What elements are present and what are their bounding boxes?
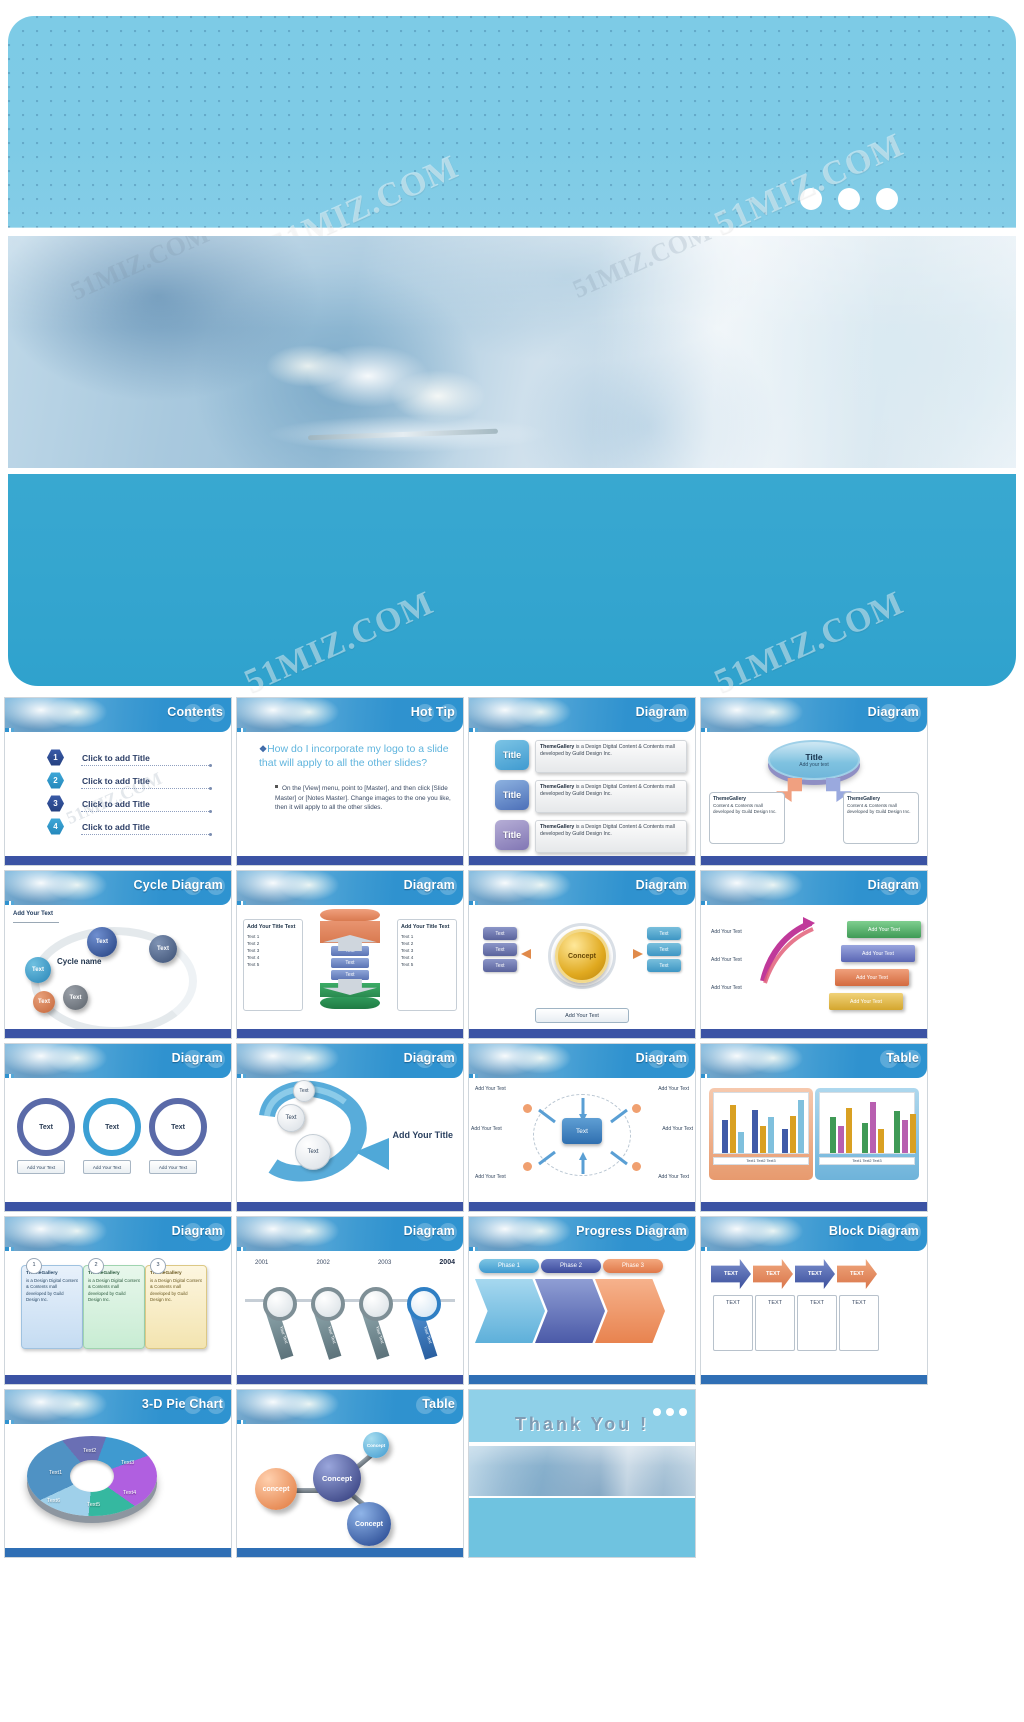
slide-footer <box>5 1202 231 1211</box>
radial-dot-icon <box>632 1162 641 1171</box>
block-box[interactable]: TEXT <box>755 1295 795 1351</box>
slide-title: Diagram <box>868 705 919 719</box>
slide-footer <box>237 856 463 865</box>
slide-thumbnail-progress-diagram[interactable]: Progress Diagram Phase 1 Phase 2 Phase 3 <box>468 1216 696 1385</box>
slide-title: Diagram <box>404 1224 455 1238</box>
thumbnail-row: Cycle Diagram Add Your Text Cycle name T… <box>4 870 1020 1039</box>
slide-title: Hot Tip <box>411 705 455 719</box>
slide-thumbnail-concept-hub[interactable]: Diagram Concept Text Text Text <box>468 870 696 1039</box>
slide-thumbnail-pie-chart[interactable]: 3-D Pie Chart Text1 Text2 Text3 Text4 Te… <box>4 1389 232 1558</box>
network-node[interactable]: Concept <box>363 1432 389 1458</box>
cycle-node[interactable]: Text <box>63 985 88 1010</box>
slide-body: ❖How do I incorporate my logo to a slide… <box>237 732 463 856</box>
row-icon: Title <box>495 740 529 770</box>
left-text-box[interactable]: ThemeGallery Content & Contents mall dev… <box>709 792 785 844</box>
slide-body: 2001 2002 2003 2004 Your Text Your Text … <box>237 1251 463 1375</box>
chart-legend: Text1 Text2 Text3 <box>819 1157 915 1165</box>
list-item[interactable]: 2 Click to add Title <box>47 769 215 792</box>
stack-item[interactable]: Text <box>647 959 681 972</box>
slide-title: Block Diagram <box>829 1224 919 1238</box>
chart-plot-area <box>713 1092 809 1154</box>
concept-hub-circle[interactable]: Concept <box>555 929 609 983</box>
empty-cell <box>700 1389 928 1558</box>
radial-label: Add Your Text <box>475 1086 506 1092</box>
stair-step[interactable]: Add Your Text <box>835 969 909 986</box>
slide-header: Table <box>237 1390 463 1424</box>
thank-you-text: Thank You ! <box>469 1414 695 1435</box>
slide-thumbnail-swirl-diagram[interactable]: Diagram Text Text Text Add Your Title <box>236 1043 464 1212</box>
theme-gallery-rows: Title ThemeGallery is a Design Digital C… <box>495 740 687 860</box>
ring-node[interactable]: Text <box>83 1098 141 1156</box>
thank-you-photo <box>469 1446 695 1496</box>
card-number-badge: 2 <box>88 1258 104 1274</box>
year-label: 2003 <box>378 1260 391 1266</box>
right-title-box[interactable]: Add Your Title Text Text 1 Text 2 Text 3… <box>397 919 457 1011</box>
bar-chart-left[interactable]: Text1 Text2 Text3 <box>709 1088 813 1180</box>
slide-footer <box>237 1375 463 1384</box>
hot-tip-answer: On the [View] menu, point to [Master], a… <box>275 784 453 812</box>
box-item: Text 1 <box>247 934 299 941</box>
oval-title-text: Title <box>805 752 822 762</box>
block-box[interactable]: TEXT <box>797 1295 837 1351</box>
row-lead: ThemeGallery <box>540 784 574 790</box>
slide-thumbnail-thank-you[interactable]: Thank You ! <box>468 1389 696 1558</box>
stair-step[interactable]: Add Your Text <box>829 993 903 1010</box>
slide-header: Diagram <box>237 871 463 905</box>
radial-dot-icon <box>523 1162 532 1171</box>
cycle-name-label: Cycle name <box>57 957 101 966</box>
contents-label: Click to add Title <box>82 753 150 763</box>
row-icon: Title <box>495 780 529 810</box>
row-lead: ThemeGallery <box>540 824 574 830</box>
hot-tip-question: ❖How do I incorporate my logo to a slide… <box>259 742 453 770</box>
slide-title: Diagram <box>172 1224 223 1238</box>
info-card[interactable]: 1 ThemeGallery is a Design Digital Conte… <box>21 1265 83 1349</box>
contents-label: Click to add Title <box>82 799 150 809</box>
slide-thumbnail-three-rings[interactable]: Diagram Text Text Text Add Your Text Add… <box>4 1043 232 1212</box>
network-node[interactable]: Concept <box>313 1454 361 1502</box>
slide-thumbnail-cylinder-diagram[interactable]: Diagram Text Text Text <box>236 870 464 1039</box>
box-item: Text 4 <box>247 955 299 962</box>
slide-header: Diagram <box>237 1217 463 1251</box>
slide-footer <box>469 1202 695 1211</box>
slide-body: concept Concept Concept Concept <box>237 1424 463 1548</box>
cycle-node[interactable]: Text <box>25 957 51 983</box>
slide-footer <box>5 856 231 865</box>
slide-footer <box>469 1375 695 1384</box>
info-card[interactable]: 3 ThemeGallery is a Design Digital Conte… <box>145 1265 207 1349</box>
cycle-diagram: Add Your Text Cycle name Text Text Text … <box>5 905 231 1029</box>
slide-body: Add Your Text Add Your Text Add Your Tex… <box>701 905 927 1029</box>
thumbnail-row: 3-D Pie Chart Text1 Text2 Text3 Text4 Te… <box>4 1389 1020 1558</box>
thumbnail-row: Contents 1 Click to add Title 2 <box>4 697 1020 866</box>
slide-header: Diagram <box>469 871 695 905</box>
slide-body: Phase 1 Phase 2 Phase 3 <box>469 1251 695 1375</box>
slide-title: Diagram <box>868 878 919 892</box>
slide-body: Title Add your text ThemeGallery Content… <box>701 732 927 856</box>
cycle-node[interactable]: Text <box>149 935 177 963</box>
add-text-button[interactable]: Add Your Text <box>149 1160 197 1174</box>
slide-title: Diagram <box>636 878 687 892</box>
hot-tip-answer-text: On the [View] menu, point to [Master], a… <box>275 785 451 811</box>
hero-dots <box>800 188 898 210</box>
stack-item[interactable]: Text <box>483 943 517 956</box>
slide-thumbnail-diagram-list[interactable]: Diagram Title ThemeGallery is a Design D… <box>468 697 696 866</box>
slide-body: Concept Text Text Text Text Text Text <box>469 905 695 1029</box>
hero-top-panel: 51MIZ.COM 51MIZ.COM <box>8 16 1016 228</box>
stack-item[interactable]: Text <box>647 927 681 940</box>
slide-header: Hot Tip <box>237 698 463 732</box>
thank-you-top-panel: Thank You ! <box>469 1390 695 1442</box>
pie-slice-label: Text2 <box>83 1448 96 1454</box>
hex-number-icon: 3 <box>47 795 64 812</box>
hex-number-icon: 4 <box>47 818 64 835</box>
box-title: Add Your Title Text <box>247 923 299 931</box>
stack-item[interactable]: Text <box>647 943 681 956</box>
arrow-left-icon <box>521 949 531 959</box>
slide-footer <box>469 856 695 865</box>
pie-slice-label: Text5 <box>87 1502 100 1508</box>
slide-thumbnail-hot-tip[interactable]: Hot Tip ❖How do I incorporate my logo to… <box>236 697 464 866</box>
watermark-text: 51MIZ.COM <box>239 584 440 701</box>
add-text-button[interactable]: Add Your Text <box>83 1160 131 1174</box>
rising-arrow-icon <box>759 915 817 985</box>
axis-label: Add Your Text <box>711 957 742 963</box>
radial-label: Add Your Text <box>662 1126 693 1132</box>
slide-body: Text Add Your Text Add Your Text Add You… <box>469 1078 695 1202</box>
row-icon: Title <box>495 820 529 850</box>
square-bullet-icon <box>275 785 278 788</box>
watermark-text: 51MIZ.COM <box>709 584 910 701</box>
swirl-node[interactable]: Text <box>277 1104 305 1132</box>
card-body: is a Design Digital Content & Contents m… <box>26 1278 78 1304</box>
card-number-badge: 1 <box>26 1258 42 1274</box>
center-text-stack: Text Text Text <box>331 946 369 980</box>
box-item: Text 2 <box>401 941 453 948</box>
slide-header: Cycle Diagram <box>5 871 231 905</box>
swirl-headline: Add Your Title <box>392 1130 453 1140</box>
stair-step[interactable]: Add Your Text <box>847 921 921 938</box>
radial-label: Add Your Text <box>658 1174 689 1180</box>
year-label-current: 2004 <box>439 1259 455 1266</box>
slide-footer <box>237 1202 463 1211</box>
arrow-pair <box>774 778 854 804</box>
card-body: is a Design Digital Content & Contents m… <box>150 1278 202 1304</box>
phase-pill[interactable]: Phase 3 <box>603 1259 663 1273</box>
slide-title: Progress Diagram <box>576 1224 687 1238</box>
slide-title: Diagram <box>404 878 455 892</box>
list-item[interactable]: Title ThemeGallery is a Design Digital C… <box>495 820 687 853</box>
box-item: Text 2 <box>247 941 299 948</box>
hot-tip-content: ❖How do I incorporate my logo to a slide… <box>259 742 453 812</box>
hot-tip-question-text: How do I incorporate my logo to a slide … <box>259 743 449 769</box>
timeline-node[interactable] <box>311 1287 345 1321</box>
slide-body: Text Text Text Add Your Title Text Text … <box>237 905 463 1029</box>
slide-body: Add Your Text Cycle name Text Text Text … <box>5 905 231 1029</box>
right-text-box[interactable]: ThemeGallery Content & Contents mall dev… <box>843 792 919 844</box>
slide-footer <box>469 1029 695 1038</box>
phase-chevron[interactable] <box>595 1279 665 1343</box>
hero-bottom-panel: 51MIZ.COM 51MIZ.COM <box>8 474 1016 686</box>
radial-label: Add Your Text <box>658 1086 689 1092</box>
year-label: 2001 <box>255 1260 268 1266</box>
box-body: Content & Contents mall developed by Gui… <box>847 803 915 816</box>
hero-title-slide[interactable]: 51MIZ.COM 51MIZ.COM 51MIZ.COM 51MIZ.COM … <box>8 8 1016 684</box>
slide-body: Title ThemeGallery is a Design Digital C… <box>469 732 695 856</box>
dotted-divider <box>81 811 211 812</box>
dotted-divider <box>81 765 211 766</box>
card-number-badge: 3 <box>150 1258 166 1274</box>
block-arrow[interactable]: TEXT <box>837 1259 877 1289</box>
center-cell: Text <box>331 958 369 968</box>
slide-footer <box>237 1548 463 1557</box>
block-box[interactable]: TEXT <box>839 1295 879 1351</box>
pie-slice-label: Text4 <box>123 1490 136 1496</box>
slide-header: Block Diagram <box>701 1217 927 1251</box>
slide-header: Diagram <box>5 1044 231 1078</box>
dotted-divider <box>81 834 211 835</box>
info-card[interactable]: 2 ThemeGallery is a Design Digital Conte… <box>83 1265 145 1349</box>
chart-plot-area <box>819 1092 915 1154</box>
slide-footer <box>701 1375 927 1384</box>
slide-title: Diagram <box>172 1051 223 1065</box>
year-label: 2002 <box>316 1260 329 1266</box>
list-item[interactable]: 1 Click to add Title <box>47 746 215 769</box>
stair-step[interactable]: Add Your Text <box>841 945 915 962</box>
slide-title: Cycle Diagram <box>134 878 223 892</box>
thumbnail-row: Diagram 1 ThemeGallery is a Design Digit… <box>4 1216 1020 1385</box>
phase-pill[interactable]: Phase 1 <box>479 1259 539 1273</box>
slide-title: Table <box>886 1051 919 1065</box>
thank-you-bottom-panel <box>469 1498 695 1557</box>
slide-body: Text1 Text2 Text3 Text4 Text5 Text6 <box>5 1424 231 1548</box>
slide-title: Diagram <box>636 705 687 719</box>
slide-footer <box>237 1029 463 1038</box>
slide-footer <box>5 1029 231 1038</box>
hero-dot-3-icon <box>876 188 898 210</box>
slide-thumbnail-radial-diagram[interactable]: Diagram <box>468 1043 696 1212</box>
slide-thumbnail-timeline[interactable]: Diagram 2001 2002 2003 2004 Your Text Yo… <box>236 1216 464 1385</box>
network-node[interactable]: Concept <box>347 1502 391 1546</box>
timeline-node[interactable] <box>263 1287 297 1321</box>
slide-thumbnail-contents[interactable]: Contents 1 Click to add Title 2 <box>4 697 232 866</box>
slide-header: Progress Diagram <box>469 1217 695 1251</box>
slide-title: Table <box>422 1397 455 1411</box>
slide-header: Diagram <box>469 698 695 732</box>
slide-header: Diagram <box>5 1217 231 1251</box>
contents-list: 1 Click to add Title 2 Click to add Titl… <box>47 746 215 838</box>
thumbnail-row: Diagram Text Text Text Add Your Text Add… <box>4 1043 1020 1212</box>
cycle-add-label: Add Your Text <box>13 911 53 917</box>
list-item[interactable]: Title ThemeGallery is a Design Digital C… <box>495 740 687 773</box>
slide-thumbnail-grid: Contents 1 Click to add Title 2 <box>4 697 1020 1562</box>
box-item: Text 3 <box>247 948 299 955</box>
network-node[interactable]: concept <box>255 1468 297 1510</box>
slide-title: Diagram <box>636 1051 687 1065</box>
radial-label: Add Your Text <box>471 1126 502 1132</box>
add-text-button[interactable]: Add Your Text <box>17 1160 65 1174</box>
slide-body: Text Text Text Add Your Text Add Your Te… <box>5 1078 231 1202</box>
slide-body: 1 Click to add Title 2 Click to add Titl… <box>5 732 231 856</box>
slide-thumbnail-diagram-oval[interactable]: Diagram Title Add your text Th <box>700 697 928 866</box>
pie-slice-label: Text1 <box>49 1470 62 1476</box>
block-box[interactable]: TEXT <box>713 1295 753 1351</box>
row-text: ThemeGallery is a Design Digital Content… <box>535 740 687 773</box>
slide-title: Contents <box>167 705 223 719</box>
left-title-box[interactable]: Add Your Title Text Text 1 Text 2 Text 3… <box>243 919 303 1011</box>
timeline-years: 2001 2002 2003 2004 <box>255 1259 455 1266</box>
slide-thumbnail-stairs-diagram[interactable]: Diagram Add Your Text Add Your Text Add … <box>700 870 928 1039</box>
block-arrow[interactable]: TEXT <box>711 1259 751 1289</box>
ring-node[interactable]: Text <box>149 1098 207 1156</box>
phase-pill[interactable]: Phase 2 <box>541 1259 601 1273</box>
cylinder-bottom-icon <box>320 997 380 1009</box>
slide-body: 1 ThemeGallery is a Design Digital Conte… <box>5 1251 231 1375</box>
thank-you-slide: Thank You ! <box>469 1390 695 1557</box>
row-lead: ThemeGallery <box>540 744 574 750</box>
center-cell: Text <box>331 970 369 980</box>
block-arrow[interactable]: TEXT <box>753 1259 793 1289</box>
axis-label: Add Your Text <box>711 929 742 935</box>
timeline-node[interactable] <box>407 1287 441 1321</box>
slide-title: Diagram <box>404 1051 455 1065</box>
slide-body: Text1 Text2 Text3 <box>701 1078 927 1202</box>
radial-center-node[interactable]: Text <box>562 1118 602 1144</box>
watermark-text: 51MIZ.COM <box>709 126 910 243</box>
slide-header: Diagram <box>237 1044 463 1078</box>
box-title: Add Your Title Text <box>401 923 453 931</box>
slide-header: Diagram <box>469 1044 695 1078</box>
slide-thumbnail-table-charts[interactable]: Table <box>700 1043 928 1212</box>
slide-footer <box>701 1202 927 1211</box>
stack-item[interactable]: Text <box>483 927 517 940</box>
block-arrow[interactable]: TEXT <box>795 1259 835 1289</box>
list-item[interactable]: 3 Click to add Title <box>47 792 215 815</box>
pie-slice-label: Text6 <box>47 1498 60 1504</box>
ring-node[interactable]: Text <box>17 1098 75 1156</box>
pie-slice-label: Text3 <box>121 1460 134 1466</box>
slide-body: Text Text Text Add Your Title <box>237 1078 463 1202</box>
oval-title-shape: Title Add your text <box>768 740 860 780</box>
left-stack: Text Text Text <box>483 927 517 975</box>
box-item: Text 4 <box>401 955 453 962</box>
slide-footer <box>5 1548 231 1557</box>
slide-thumbnail-cycle-diagram[interactable]: Cycle Diagram Add Your Text Cycle name T… <box>4 870 232 1039</box>
hex-number-icon: 2 <box>47 772 64 789</box>
cycle-node[interactable]: Text <box>33 991 55 1013</box>
box-item: Text 1 <box>401 934 453 941</box>
chart-legend: Text1 Text2 Text3 <box>713 1157 809 1165</box>
add-text-button[interactable]: Add Your Text <box>535 1008 629 1023</box>
swirl-node[interactable]: Text <box>295 1134 331 1170</box>
contents-label: Click to add Title <box>82 776 150 786</box>
arrow-right-icon <box>633 949 643 959</box>
list-item[interactable]: 4 Click to add Title <box>47 815 215 838</box>
box-item: Text 5 <box>247 962 299 969</box>
row-text: ThemeGallery is a Design Digital Content… <box>535 820 687 853</box>
radial-label: Add Your Text <box>475 1174 506 1180</box>
contents-label: Click to add Title <box>82 822 150 832</box>
presentation-template-page: 51MIZ.COM 51MIZ.COM 51MIZ.COM 51MIZ.COM … <box>0 0 1024 1722</box>
diamond-bullet-icon: ❖ <box>259 744 267 754</box>
right-stack: Text Text Text <box>647 927 681 975</box>
hero-dot-2-icon <box>838 188 860 210</box>
phase-chevron[interactable] <box>535 1279 605 1343</box>
cycle-node[interactable]: Text <box>87 927 117 957</box>
box-lead: ThemeGallery <box>713 796 746 802</box>
box-lead: ThemeGallery <box>847 796 880 802</box>
cylinder-top-icon <box>320 909 380 921</box>
timeline-node[interactable] <box>359 1287 393 1321</box>
hex-number-icon: 1 <box>47 749 64 766</box>
box-body: Content & Contents mall developed by Gui… <box>713 803 781 816</box>
slide-title: 3-D Pie Chart <box>142 1397 223 1411</box>
slide-thumbnail-three-cards[interactable]: Diagram 1 ThemeGallery is a Design Digit… <box>4 1216 232 1385</box>
radial-dot-icon <box>632 1104 641 1113</box>
slide-thumbnail-block-diagram[interactable]: Block Diagram TEXT TEXT TEXT TEXT TEXT T… <box>700 1216 928 1385</box>
axis-label: Add Your Text <box>711 985 742 991</box>
row-text: ThemeGallery is a Design Digital Content… <box>535 780 687 813</box>
phase-chevron[interactable] <box>475 1279 545 1343</box>
list-item[interactable]: Title ThemeGallery is a Design Digital C… <box>495 780 687 813</box>
box-item: Text 3 <box>401 948 453 955</box>
slide-body: TEXT TEXT TEXT TEXT TEXT TEXT TEXT TEXT <box>701 1251 927 1375</box>
box-item: Text 5 <box>401 962 453 969</box>
dotted-divider <box>81 788 211 789</box>
hero-dot-1-icon <box>800 188 822 210</box>
hero-photo: 51MIZ.COM 51MIZ.COM <box>8 236 1016 468</box>
slide-footer <box>5 1375 231 1384</box>
slide-header: Table <box>701 1044 927 1078</box>
slide-footer <box>701 1029 927 1038</box>
slide-header: 3-D Pie Chart <box>5 1390 231 1424</box>
oval-sub-text: Add your text <box>799 762 828 768</box>
slide-header: Diagram <box>701 871 927 905</box>
slide-footer <box>701 856 927 865</box>
slide-thumbnail-concept-network[interactable]: Table concept Concept Concept Concept <box>236 1389 464 1558</box>
slide-header: Diagram <box>701 698 927 732</box>
card-body: is a Design Digital Content & Contents m… <box>88 1278 140 1304</box>
slide-header: Contents <box>5 698 231 732</box>
swirl-node[interactable]: Text <box>293 1080 315 1102</box>
radial-dot-icon <box>523 1104 532 1113</box>
bar-chart-right[interactable]: Text1 Text2 Text3 <box>815 1088 919 1180</box>
stack-item[interactable]: Text <box>483 959 517 972</box>
